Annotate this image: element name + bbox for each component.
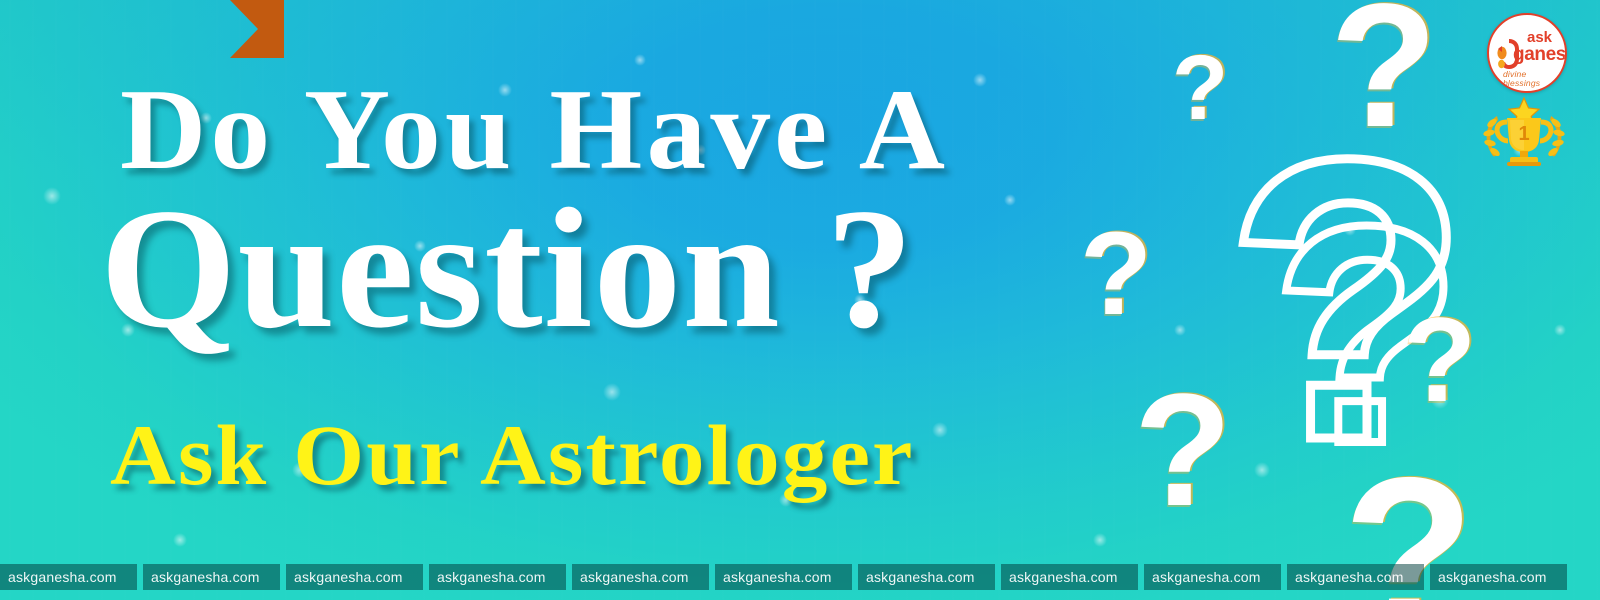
qmark-mid-right: ? [1403,300,1476,420]
logo-word-ask: ask [1527,30,1552,45]
watermark-text: askganesha.com [1009,564,1118,590]
watermark-text: askganesha.com [151,564,260,590]
trophy-rank-number: 1 [1518,123,1529,145]
askganesha-logo[interactable]: ask ganesha divine blessings [1487,13,1567,93]
promotional-banner: ???????? #1 Best Seller Do You Have A Qu… [0,0,1600,600]
qmark-small-mid-left: ? [1080,215,1152,333]
footer-watermark-strip: askganesha.comaskganesha.comaskganesha.c… [0,564,1600,590]
logo-tagline: divine blessings [1503,70,1565,87]
watermark-text: askganesha.com [1152,564,1261,590]
qmark-mid-bottom-left: ? [1134,370,1232,530]
watermark-text: askganesha.com [8,564,117,590]
watermark-text: askganesha.com [294,564,403,590]
watermark-text: askganesha.com [866,564,975,590]
trophy-icon: 1 [1477,96,1571,166]
watermark-text: askganesha.com [1438,564,1547,590]
qmark-small-top-left: ? [1172,42,1228,134]
watermark-text: askganesha.com [1295,564,1404,590]
logo-word-ganesha: ganesha [1513,45,1567,64]
watermark-text: askganesha.com [580,564,689,590]
watermark-text: askganesha.com [437,564,546,590]
watermark-text: askganesha.com [723,564,832,590]
